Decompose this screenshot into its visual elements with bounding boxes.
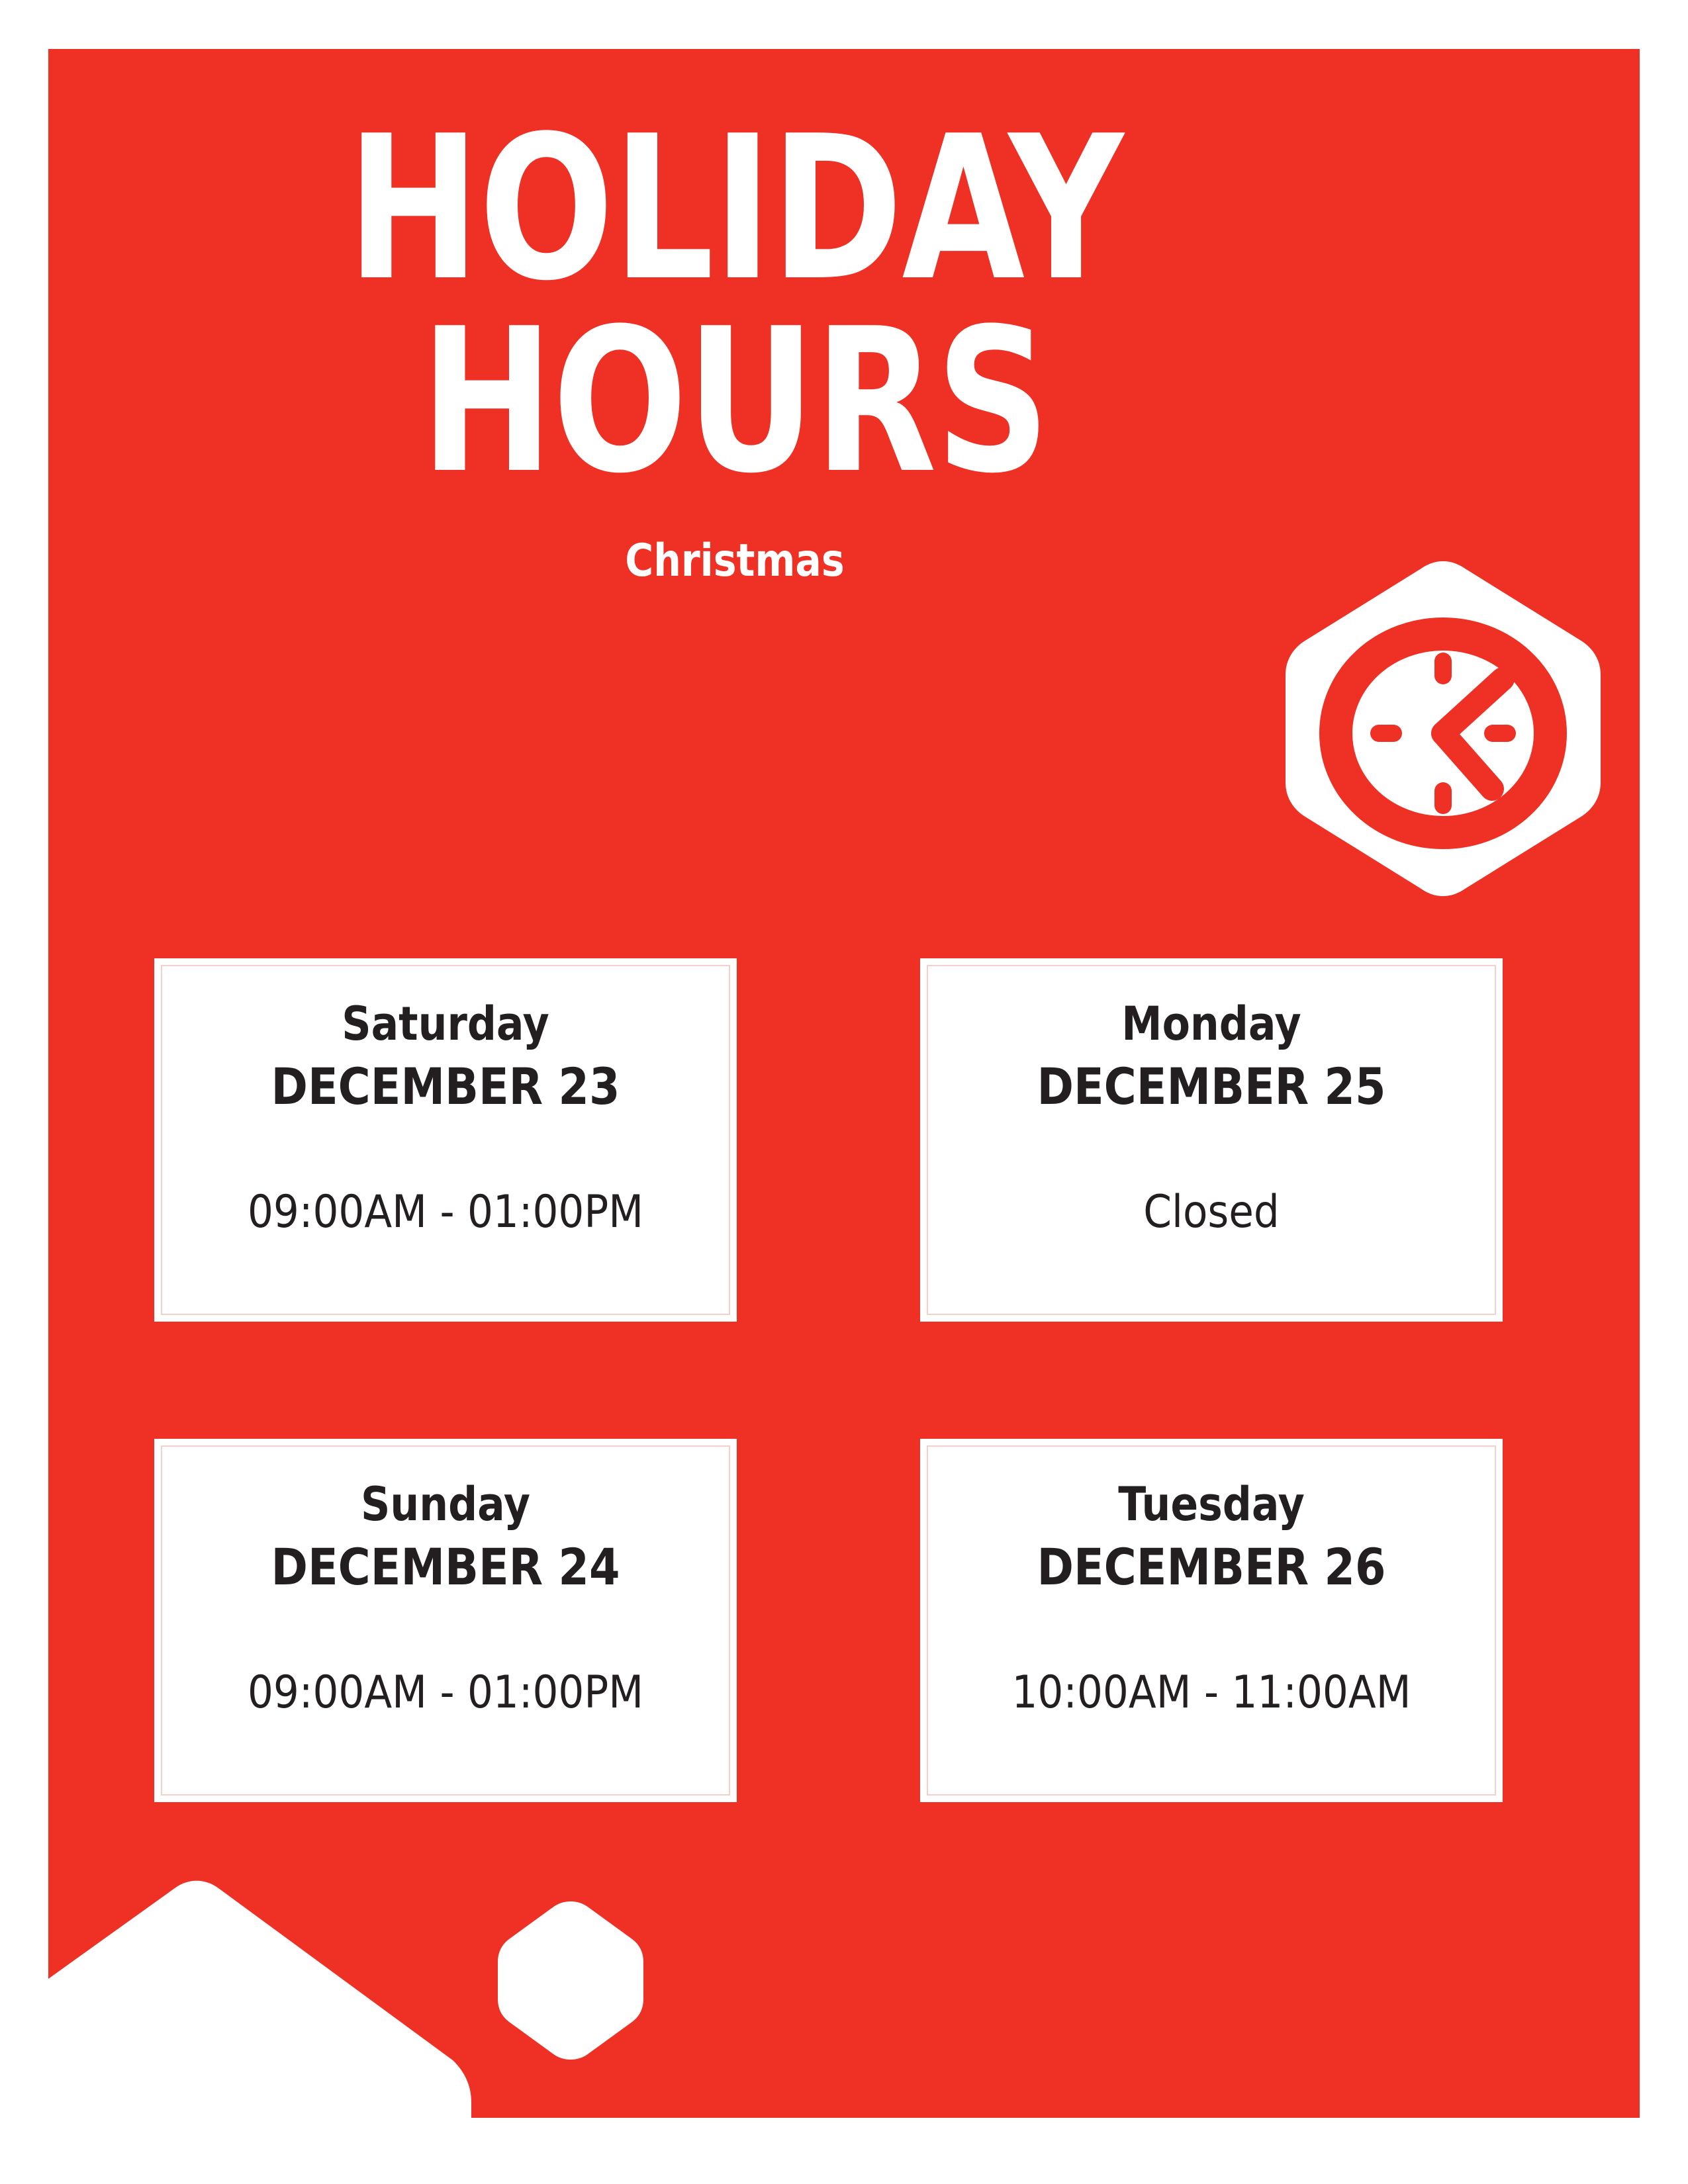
card-weekday: Monday <box>978 999 1444 1050</box>
card-date: DECEMBER 23 <box>212 1059 679 1115</box>
card-date: DECEMBER 24 <box>212 1539 679 1595</box>
card-date: DECEMBER 25 <box>978 1059 1444 1115</box>
day-card: Sunday DECEMBER 24 09:00AM - 01:00PM <box>154 1439 737 1802</box>
clock-badge <box>1278 553 1609 904</box>
day-card: Tuesday DECEMBER 26 10:00AM - 11:00AM <box>920 1439 1503 1802</box>
card-hours: 10:00AM - 11:00AM <box>973 1594 1450 1718</box>
day-card: Saturday DECEMBER 23 09:00AM - 01:00PM <box>154 958 737 1322</box>
holiday-hours-card-grid: Saturday DECEMBER 23 09:00AM - 01:00PM M… <box>154 958 1503 1802</box>
card-hours: 09:00AM - 01:00PM <box>207 1594 684 1718</box>
card-weekday: Tuesday <box>978 1480 1444 1530</box>
card-hours: Closed <box>973 1114 1450 1238</box>
card-weekday: Saturday <box>212 999 679 1050</box>
card-hours: 09:00AM - 01:00PM <box>207 1114 684 1238</box>
poster-headline-block: HOLIDAY HOURS Christmas <box>159 113 1311 584</box>
card-date: DECEMBER 26 <box>978 1539 1444 1595</box>
poster-subtitle: Christmas <box>240 498 1230 584</box>
card-weekday: Sunday <box>212 1480 679 1530</box>
page-title: HOLIDAY HOURS <box>274 113 1196 498</box>
holiday-hours-poster: HOLIDAY HOURS Christmas Saturday <box>0 0 1688 2184</box>
day-card: Monday DECEMBER 25 Closed <box>920 958 1503 1322</box>
